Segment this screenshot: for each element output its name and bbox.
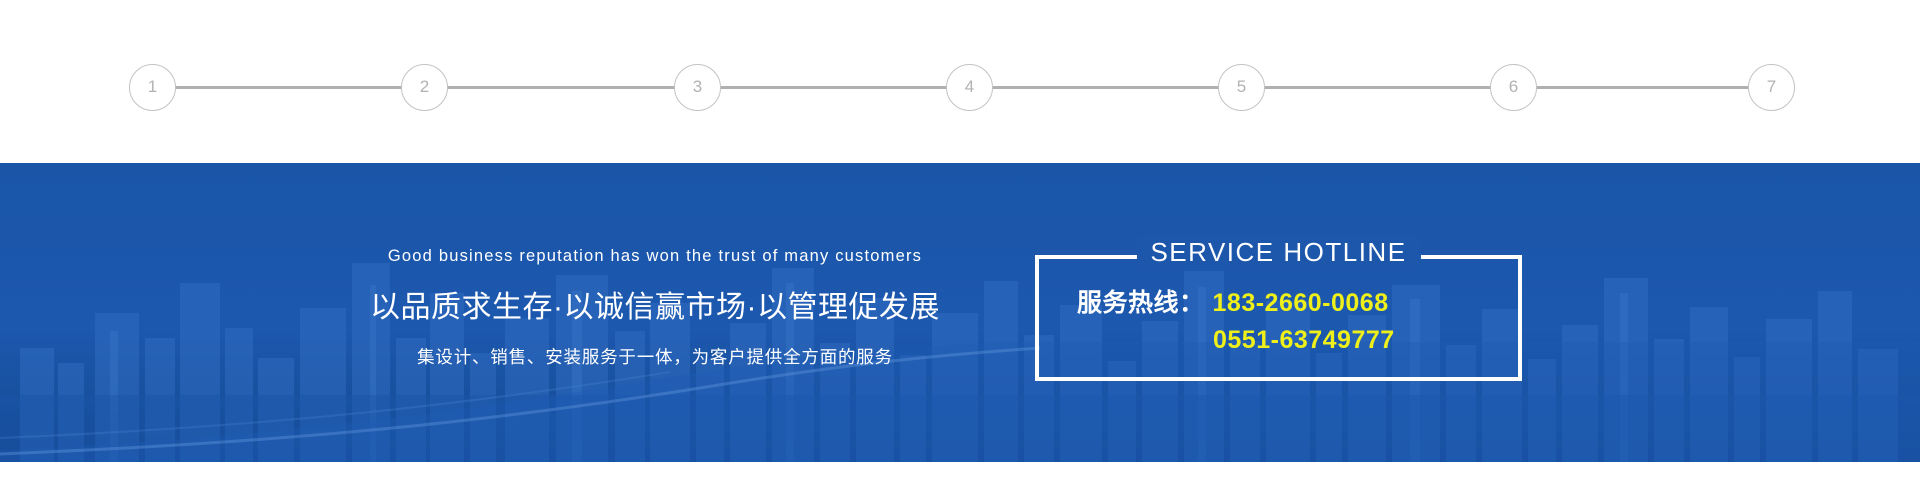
hotline-phone-number-primary[interactable]: 183-2660-0068 [1213, 289, 1389, 318]
slogan-subtitle: 集设计、销售、安装服务于一体，为客户提供全方面的服务 [370, 344, 940, 369]
service-hotline-block: SERVICE HOTLINE 服务热线： 183-2660-0068 0551… [1035, 255, 1522, 381]
slogan-headline: 以品质求生存·以诚信赢市场·以管理促发展 [370, 282, 940, 326]
step-circle-4[interactable]: 4 [946, 64, 993, 111]
process-step-indicator: 1 2 3 4 5 6 7 [0, 0, 1920, 163]
step-circle-1[interactable]: 1 [129, 64, 176, 111]
hotline-number-list: 服务热线： 183-2660-0068 0551-63749777 [1035, 283, 1522, 355]
slogan-english: Good business reputation has won the tru… [370, 247, 940, 266]
step-circle-3[interactable]: 3 [674, 64, 721, 111]
hotline-label: 服务热线： [1077, 283, 1205, 319]
step-circle-2[interactable]: 2 [401, 64, 448, 111]
hotline-row: 0551-63749777 [1035, 326, 1522, 355]
step-circle-6[interactable]: 6 [1490, 64, 1537, 111]
blue-promo-banner: Good business reputation has won the tru… [0, 163, 1920, 462]
hotline-phone-number-secondary[interactable]: 0551-63749777 [1213, 326, 1395, 355]
step-circle-5[interactable]: 5 [1218, 64, 1265, 111]
step-circle-7[interactable]: 7 [1748, 64, 1795, 111]
hotline-title: SERVICE HOTLINE [1136, 235, 1420, 269]
road-curve-decoration-icon [0, 342, 1920, 462]
page-root: 1 2 3 4 5 6 7 [0, 0, 1920, 500]
slogan-block: Good business reputation has won the tru… [370, 247, 940, 369]
hotline-row: 服务热线： 183-2660-0068 [1035, 283, 1522, 319]
step-track: 1 2 3 4 5 6 7 [129, 64, 1795, 111]
